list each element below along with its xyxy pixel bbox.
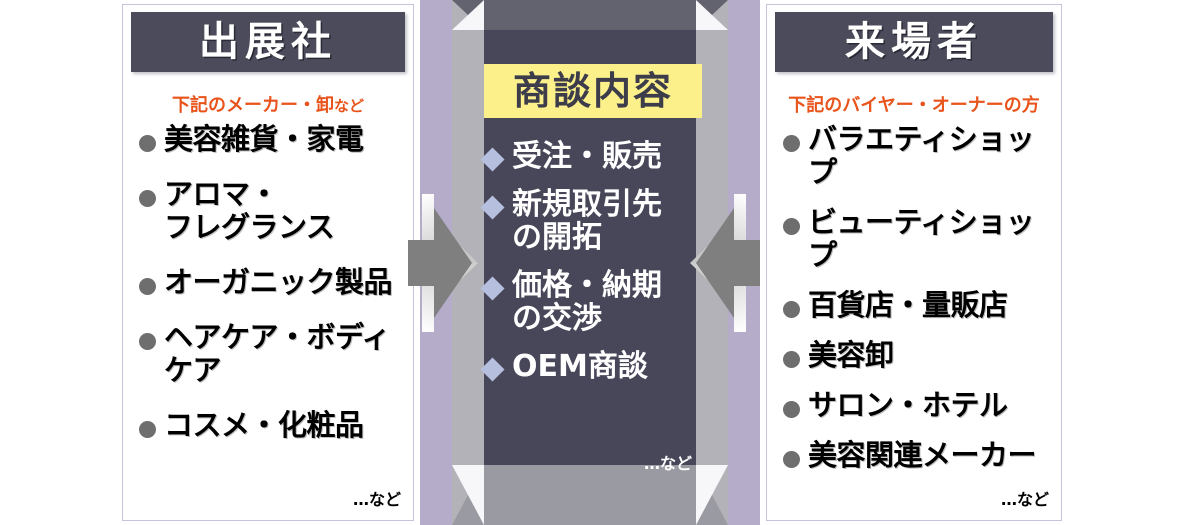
center-block-top-bevel bbox=[452, 0, 728, 30]
circle-bullet-icon bbox=[783, 351, 800, 368]
circle-bullet-icon bbox=[783, 451, 800, 468]
center-block-bottom-bevel bbox=[452, 465, 728, 525]
list-item: 美容雑貨・家電 bbox=[139, 123, 403, 156]
exhibitor-item-label: 美容雑貨・家電 bbox=[164, 123, 364, 156]
center-title-text: 商談内容 bbox=[513, 72, 673, 110]
visitor-panel-title: 来場者 bbox=[845, 22, 983, 62]
visitor-item-label: バラエティショップ bbox=[808, 123, 1051, 189]
diamond-bullet-icon bbox=[480, 195, 504, 219]
list-item: 美容卸 bbox=[783, 339, 1051, 372]
exhibitor-item-list: 美容雑貨・家電 アロマ・フレグランス オーガニック製品 ヘアケア・ボディケア コ… bbox=[139, 123, 403, 464]
list-item: ビューティショップ bbox=[783, 206, 1051, 272]
list-item: ヘアケア・ボディケア bbox=[139, 321, 403, 387]
exhibitor-panel: 出展社 下記のメーカー・卸など 美容雑貨・家電 アロマ・フレグランス オーガニッ… bbox=[122, 4, 414, 521]
center-title-plate: 商談内容 bbox=[484, 64, 702, 118]
circle-bullet-icon bbox=[783, 135, 800, 152]
exhibitor-subtitle-tail: など bbox=[334, 97, 364, 115]
visitor-item-label: ビューティショップ bbox=[808, 206, 1051, 272]
diamond-bullet-icon bbox=[480, 147, 504, 171]
list-item: 百貨店・量販店 bbox=[783, 289, 1051, 322]
circle-bullet-icon bbox=[783, 301, 800, 318]
visitor-item-list: バラエティショップ ビューティショップ 百貨店・量販店 美容卸 サロン・ホテル … bbox=[783, 123, 1051, 489]
exhibitor-item-label: オーガニック製品 bbox=[164, 266, 392, 299]
list-item: 新規取引先の開拓 bbox=[484, 188, 710, 255]
visitor-panel: 来場者 下記のバイヤー・オーナーの方 バラエティショップ ビューティショップ 百… bbox=[766, 4, 1062, 521]
circle-bullet-icon bbox=[139, 421, 156, 438]
exhibitor-subtitle-main: 下記のメーカー・卸 bbox=[172, 95, 334, 116]
center-item-label: 受注・販売 bbox=[512, 140, 662, 174]
visitor-subtitle: 下記のバイヤー・オーナーの方 bbox=[767, 91, 1061, 117]
visitor-panel-header: 来場者 bbox=[775, 12, 1053, 72]
visitor-item-label: 百貨店・量販店 bbox=[808, 289, 1008, 322]
exhibitor-panel-title: 出展社 bbox=[199, 22, 337, 62]
center-item-label: OEM商談 bbox=[512, 350, 648, 384]
exhibitor-panel-header: 出展社 bbox=[131, 12, 405, 72]
exhibitor-item-label: コスメ・化粧品 bbox=[164, 409, 364, 442]
list-item: 価格・納期の交渉 bbox=[484, 269, 710, 336]
list-item: サロン・ホテル bbox=[783, 389, 1051, 422]
visitor-item-label: サロン・ホテル bbox=[808, 389, 1008, 422]
center-item-label: 新規取引先の開拓 bbox=[512, 188, 662, 255]
list-item: オーガニック製品 bbox=[139, 266, 403, 299]
exhibitor-footnote: …など bbox=[353, 486, 401, 510]
circle-bullet-icon bbox=[139, 278, 156, 295]
diamond-bullet-icon bbox=[480, 357, 504, 381]
visitor-item-label: 美容関連メーカー bbox=[808, 439, 1036, 472]
list-item: OEM商談 bbox=[484, 350, 710, 384]
list-item: コスメ・化粧品 bbox=[139, 409, 403, 442]
arrow-pointing-right-icon bbox=[408, 190, 480, 336]
diamond-bullet-icon bbox=[480, 276, 504, 300]
circle-bullet-icon bbox=[783, 218, 800, 235]
visitor-footnote: …など bbox=[1001, 486, 1049, 510]
exhibitor-item-label: アロマ・フレグランス bbox=[164, 178, 334, 244]
center-footnote: …など bbox=[484, 450, 692, 474]
exhibitor-subtitle: 下記のメーカー・卸など bbox=[123, 91, 413, 117]
circle-bullet-icon bbox=[139, 135, 156, 152]
circle-bullet-icon bbox=[783, 401, 800, 418]
circle-bullet-icon bbox=[139, 190, 156, 207]
infographic-canvas: 商談内容 受注・販売 新規取引先の開拓 価格・納期の交渉 OEM商談 …など bbox=[0, 0, 1180, 525]
list-item: 美容関連メーカー bbox=[783, 439, 1051, 472]
list-item: アロマ・フレグランス bbox=[139, 178, 403, 244]
visitor-subtitle-main: 下記のバイヤー・オーナーの方 bbox=[788, 95, 1039, 116]
arrow-pointing-left-icon bbox=[688, 190, 760, 336]
center-item-label: 価格・納期の交渉 bbox=[512, 269, 662, 336]
list-item: 受注・販売 bbox=[484, 140, 710, 174]
center-item-list: 受注・販売 新規取引先の開拓 価格・納期の交渉 OEM商談 bbox=[484, 140, 710, 398]
visitor-item-label: 美容卸 bbox=[808, 339, 894, 372]
list-item: バラエティショップ bbox=[783, 123, 1051, 189]
exhibitor-item-label: ヘアケア・ボディケア bbox=[164, 321, 403, 387]
circle-bullet-icon bbox=[139, 333, 156, 350]
